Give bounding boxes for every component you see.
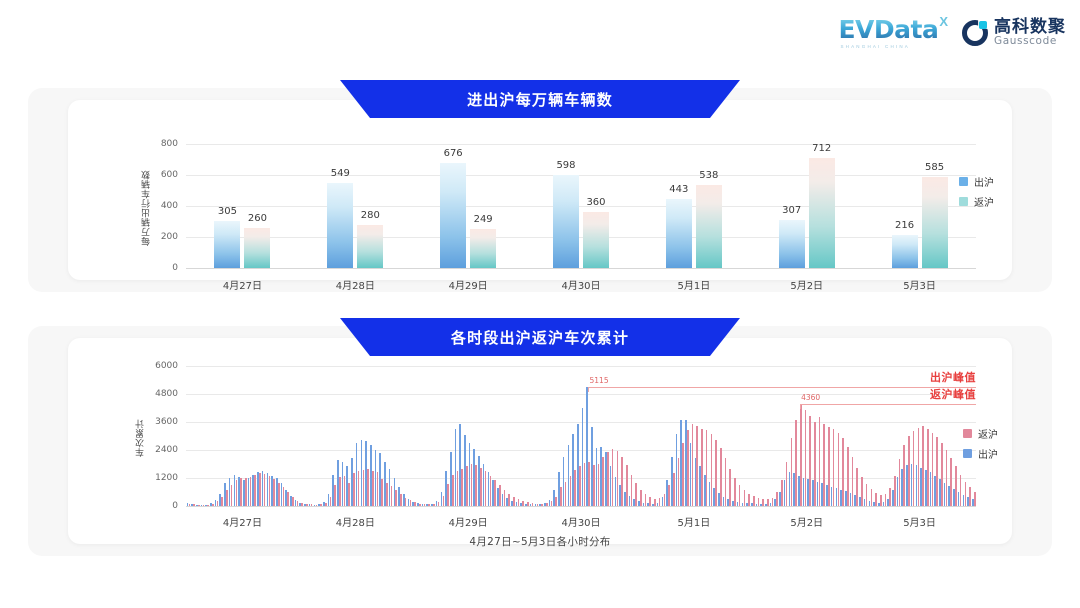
- chart1-bars: 3052605492806762495983604435383077122165…: [186, 144, 976, 268]
- chart1-legend-item: 返沪: [959, 194, 994, 209]
- chart2-peak-line-peak-out: [588, 387, 976, 388]
- chart1-x-tick-label: 5月2日: [790, 277, 823, 292]
- chart1-bar-返沪: 249: [470, 229, 496, 268]
- chart2-x-tick-label: 5月2日: [790, 514, 823, 529]
- chart1-x-tick-label: 5月3日: [903, 277, 936, 292]
- chart2-gridline: [186, 506, 976, 507]
- chart1-legend-label: 出沪: [974, 174, 994, 189]
- chart1-x-tick-label: 4月28日: [336, 277, 375, 292]
- chart1-bar-value: 305: [218, 206, 237, 217]
- chart2-peak-value-peak-out: 5115: [590, 376, 609, 385]
- chart1-bar-value: 676: [444, 148, 463, 159]
- chart1-bar-出沪: 598: [553, 175, 579, 268]
- chart1-bar-返沪: 538: [696, 185, 722, 268]
- chart2-x-tick-label: 5月3日: [903, 514, 936, 529]
- gausscode-text: 高科数聚 Gausscode: [994, 19, 1066, 48]
- chart1-y-tick-label: 0: [68, 263, 178, 273]
- chart1-bar-value: 443: [669, 184, 688, 195]
- chart1-bar-出沪: 443: [666, 199, 692, 268]
- gausscode-name-en: Gausscode: [994, 36, 1066, 47]
- chart1-bar-出沪: 216: [892, 235, 918, 268]
- chart1-bar-value: 712: [812, 143, 831, 154]
- chart2-peak-label-peak-back: 返沪峰值: [930, 386, 976, 402]
- evdata-subtitle: SHANGHAI CHINA: [840, 45, 910, 50]
- chart2-x-tick-label: 4月29日: [449, 514, 488, 529]
- chart2-peak-tick-peak-out: [588, 387, 589, 392]
- chart-panel-hourly: 车次累计 012002400360048006000 5115出沪峰值4360返…: [28, 326, 1052, 556]
- evdata-superscript-icon: X: [939, 15, 948, 28]
- chart1-title: 进出沪每万辆车辆数: [467, 89, 613, 110]
- chart1-gridline: [186, 268, 976, 269]
- chart2-x-tick-label: 4月28日: [336, 514, 375, 529]
- chart2-x-tick-label: 4月30日: [561, 514, 600, 529]
- chart1-legend-item: 出沪: [959, 174, 994, 189]
- chart2-title: 各时段出沪返沪车次累计: [451, 327, 629, 348]
- gausscode-name-cn: 高科数聚: [994, 19, 1066, 37]
- chart-card-hourly: 车次累计 012002400360048006000 5115出沪峰值4360返…: [68, 338, 1012, 544]
- chart2-bar-back: [974, 492, 976, 506]
- chart2-y-tick-label: 3600: [68, 417, 178, 427]
- chart1-bar-group: 598360: [525, 144, 638, 268]
- chart1-bar-group: 305260: [186, 144, 299, 268]
- chart1-bar-value: 307: [782, 205, 801, 216]
- chart1-bar-出沪: 307: [779, 220, 805, 268]
- chart1-bar-返沪: 585: [922, 177, 948, 268]
- chart-panel-vehicles: 每万辆出行车辆数 0200400600800 30526054928067624…: [28, 88, 1052, 292]
- chart1-legend: 出沪返沪: [959, 174, 994, 209]
- chart1-y-tick-label: 400: [68, 201, 178, 211]
- chart2-y-tick-label: 6000: [68, 361, 178, 371]
- chart2-y-tick-label: 4800: [68, 389, 178, 399]
- chart1-bar-出沪: 305: [214, 221, 240, 268]
- chart1-bar-value: 585: [925, 162, 944, 173]
- chart2-peak-line-peak-back: [800, 404, 976, 405]
- chart2-x-tick-label: 5月1日: [677, 514, 710, 529]
- chart2-bars-container: 5115出沪峰值4360返沪峰值: [186, 366, 976, 506]
- chart2-legend-swatch: [963, 449, 972, 458]
- chart2-legend-swatch: [963, 429, 972, 438]
- chart2-y-tick-label: 2400: [68, 445, 178, 455]
- chart2-caption: 4月27日~5月3日各小时分布: [68, 534, 1012, 549]
- chart1-bar-出沪: 549: [327, 183, 353, 268]
- evdata-logo: EVData X SHANGHAI CHINA: [838, 17, 948, 50]
- chart1-x-tick-label: 4月30日: [561, 277, 600, 292]
- chart1-bar-value: 249: [474, 214, 493, 225]
- chart1-bar-返沪: 712: [809, 158, 835, 268]
- chart2-title-banner: 各时段出沪返沪车次累计: [340, 318, 740, 356]
- chart1-bar-group: 676249: [412, 144, 525, 268]
- chart1-bar-value: 216: [895, 220, 914, 231]
- chart1-bar-返沪: 280: [357, 225, 383, 268]
- chart1-bar-返沪: 260: [244, 228, 270, 268]
- chart1-y-tick-label: 800: [68, 139, 178, 149]
- chart2-legend: 返沪出沪: [963, 426, 998, 461]
- chart1-bar-返沪: 360: [583, 212, 609, 268]
- chart1-bar-value: 549: [331, 168, 350, 179]
- chart1-legend-swatch: [959, 177, 968, 186]
- chart2-legend-item: 出沪: [963, 446, 998, 461]
- chart1-bar-group: 549280: [299, 144, 412, 268]
- chart2-peak-label-peak-out: 出沪峰值: [930, 369, 976, 385]
- chart1-bar-value: 280: [361, 210, 380, 221]
- chart2-x-tick-label: 4月27日: [223, 514, 262, 529]
- chart1-bar-出沪: 676: [440, 163, 466, 268]
- chart2-plot-area: 车次累计 012002400360048006000 5115出沪峰值4360返…: [68, 338, 1012, 544]
- chart1-x-tick-label: 4月29日: [449, 277, 488, 292]
- chart1-x-tick-label: 4月27日: [223, 277, 262, 292]
- chart1-plot-area: 每万辆出行车辆数 0200400600800 30526054928067624…: [68, 100, 1012, 280]
- chart1-bar-group: 307712: [750, 144, 863, 268]
- chart2-peak-tick-peak-back: [800, 404, 801, 409]
- chart2-legend-item: 返沪: [963, 426, 998, 441]
- chart1-legend-label: 返沪: [974, 194, 994, 209]
- chart2-y-tick-label: 1200: [68, 473, 178, 483]
- evdata-wordmark-row: EVData X: [838, 17, 948, 42]
- chart1-title-banner: 进出沪每万辆车辆数: [340, 80, 740, 118]
- gausscode-g-mark-icon: [962, 20, 988, 46]
- gausscode-logo: 高科数聚 Gausscode: [962, 19, 1066, 48]
- chart1-bar-value: 260: [248, 213, 267, 224]
- chart1-x-tick-label: 5月1日: [677, 277, 710, 292]
- chart2-legend-label: 返沪: [978, 426, 998, 441]
- chart1-bar-value: 360: [586, 197, 605, 208]
- chart2-legend-label: 出沪: [978, 446, 998, 461]
- chart1-y-tick-label: 600: [68, 170, 178, 180]
- page-header: EVData X SHANGHAI CHINA 高科数聚 Gausscode: [0, 0, 1080, 66]
- chart2-peak-value-peak-back: 4360: [801, 393, 820, 402]
- chart-card-vehicles: 每万辆出行车辆数 0200400600800 30526054928067624…: [68, 100, 1012, 280]
- chart1-bar-value: 538: [699, 170, 718, 181]
- chart1-bar-value: 598: [556, 160, 575, 171]
- chart1-y-tick-label: 200: [68, 232, 178, 242]
- evdata-wordmark: EVData: [838, 17, 938, 42]
- chart2-y-tick-label: 0: [68, 501, 178, 511]
- chart1-legend-swatch: [959, 197, 968, 206]
- chart1-bar-group: 443538: [637, 144, 750, 268]
